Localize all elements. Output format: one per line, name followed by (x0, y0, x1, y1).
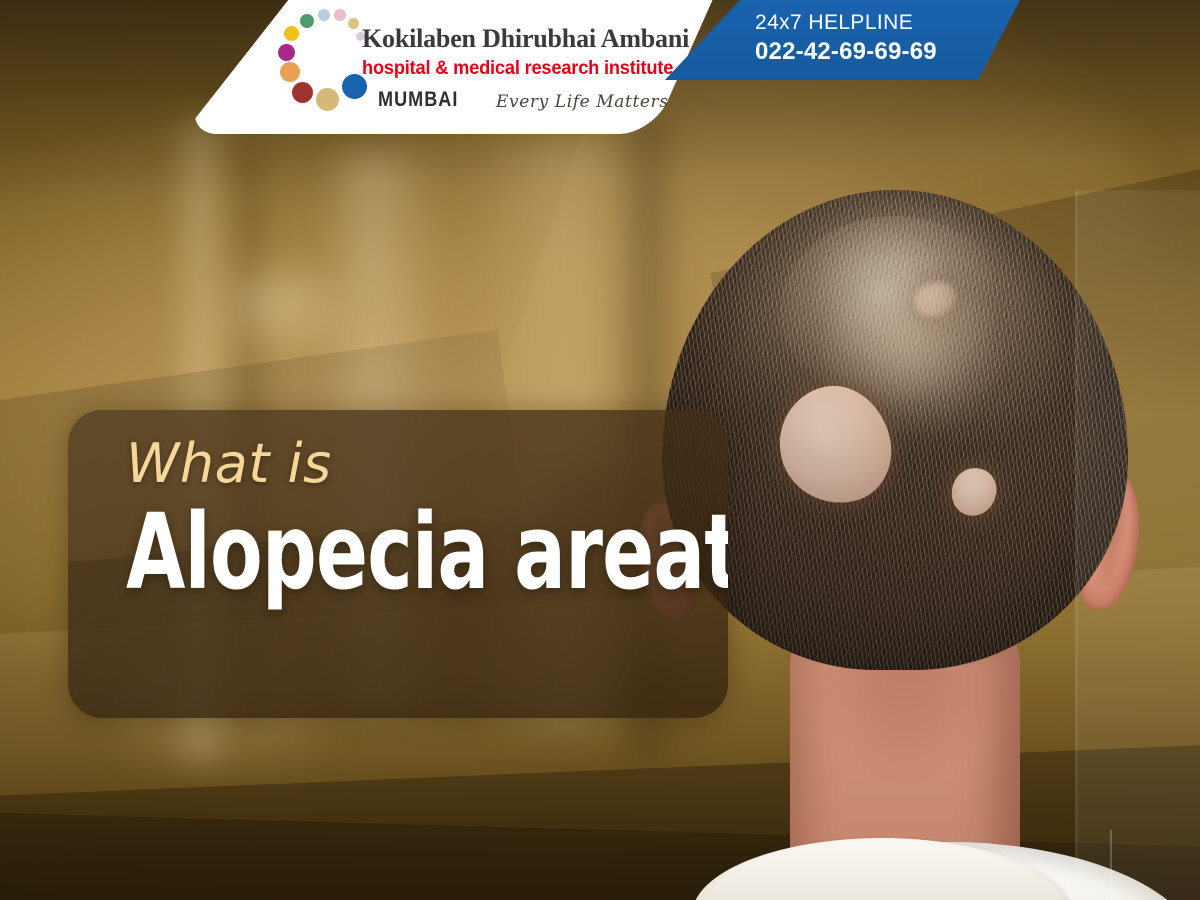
dot-maroon-icon (292, 82, 313, 103)
dot-pink-icon (334, 9, 346, 21)
poster-canvas: What is Alopecia areata? Kokilaben Dhiru… (0, 0, 1200, 900)
dot-sand-icon (316, 88, 339, 111)
helpline-phone-number[interactable]: 022-42-69-69-69 (755, 38, 937, 66)
dot-lightblue-icon (318, 9, 330, 21)
brand-city: MUMBAI (378, 88, 458, 112)
headline-eyebrow: What is (126, 436, 718, 491)
brand-subtitle: hospital & medical research institute (362, 58, 673, 80)
dot-green-icon (300, 14, 314, 28)
brand-tagline: Every Life Matters (496, 92, 669, 112)
dot-magenta-icon (278, 44, 295, 61)
brand-name: Kokilaben Dhirubhai Ambani (362, 24, 689, 54)
photo-light-seam (1078, 190, 1200, 900)
headline-text-block: What is Alopecia areata? (126, 436, 718, 603)
headline-panel: What is Alopecia areata? (68, 410, 728, 718)
photo-light-seam (1075, 190, 1078, 900)
dot-khaki-icon (348, 18, 359, 29)
head (662, 190, 1128, 670)
dot-yellow-icon (284, 26, 299, 41)
helpline-label: 24x7 HELPLINE (755, 11, 937, 35)
background-blur-blob (236, 278, 328, 334)
dot-orange-icon (280, 62, 300, 82)
page-title: Alopecia areata? (126, 503, 611, 603)
helpline-text-block: 24x7 HELPLINE 022-42-69-69-69 (755, 11, 937, 66)
colored-dots-spiral-logo-icon (278, 8, 370, 106)
logo-block[interactable]: Kokilaben Dhirubhai Ambani hospital & me… (183, 0, 653, 134)
